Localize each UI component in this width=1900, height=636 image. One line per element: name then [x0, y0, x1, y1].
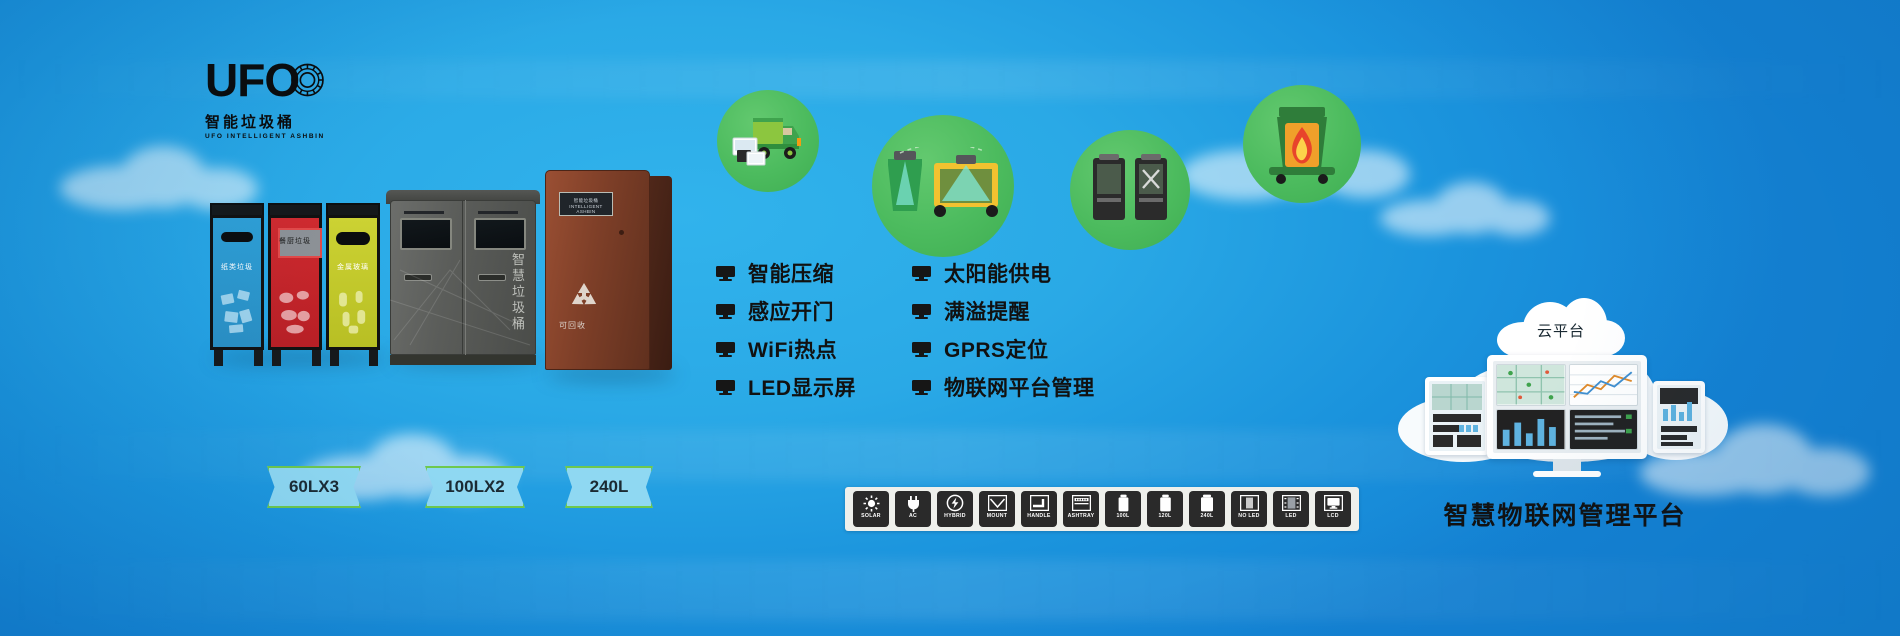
monitor-bullet-icon: [716, 304, 735, 319]
banner-stage: UFO 智能垃圾桶 UFO INTELLIGENT ASHBIN: [0, 0, 1900, 636]
dashboard-chart-panel: [1569, 364, 1639, 406]
feature-label: 物联网平台管理: [944, 372, 1095, 402]
feature-label: 智能压缩: [748, 258, 834, 288]
flame-alarm-icon: [1259, 101, 1345, 187]
spec-icon-solar[interactable]: SOLAR: [853, 491, 889, 527]
feature-item: 太阳能供电: [912, 258, 1095, 288]
iot-platform-devices: [1425, 355, 1705, 485]
bin-240l-icon: [1189, 491, 1225, 513]
spec-icon-label: AC: [895, 513, 931, 520]
sky-streak: [0, 560, 1900, 620]
bin-graphic-overlay: [390, 230, 536, 350]
spec-icon-lcd[interactable]: LCD: [1315, 491, 1351, 527]
spec-icon-label: 240L: [1189, 513, 1225, 520]
no-led-icon: [1231, 491, 1267, 513]
power-plug-icon: [895, 491, 931, 513]
feature-item: 感应开门: [716, 296, 856, 326]
background-cloud: [1380, 180, 1550, 236]
ring-emblem-icon: [290, 53, 325, 107]
monitor-stand: [1553, 459, 1581, 471]
green-circle-fill-sensing: [872, 115, 1014, 257]
sun-icon: [853, 491, 889, 513]
feature-item: 物联网平台管理: [912, 372, 1095, 402]
feature-label: GPRS定位: [944, 334, 1049, 364]
brown-recycling-bin: 智能垃圾桶 INTELLIGENT ASHBIN 可回收: [545, 170, 650, 370]
bin-label: 餐厨垃圾: [271, 236, 319, 246]
capacity-ribbon-60lx3: 60LX3: [267, 466, 361, 508]
spec-icon-100l[interactable]: 100L: [1105, 491, 1141, 527]
feature-column-left: 智能压缩 感应开门 WiFi热点 LED显示屏: [716, 258, 856, 402]
feature-item: LED显示屏: [716, 372, 856, 402]
bin-label: 金属玻璃: [329, 262, 377, 272]
wall-mount-icon: [979, 491, 1015, 513]
spec-icon-label: LED: [1273, 513, 1309, 520]
spec-icon-label: 120L: [1147, 513, 1183, 520]
logo-english-name: UFO INTELLIGENT ASHBIN: [205, 133, 325, 140]
spec-icon-led[interactable]: LED: [1273, 491, 1309, 527]
capacity-ribbon-100lx2: 100LX2: [425, 466, 525, 508]
tablet-left: [1425, 377, 1489, 455]
spec-icon-mount[interactable]: MOUNT: [979, 491, 1015, 527]
green-circle-collection-truck: [717, 90, 819, 192]
logo-wordmark: UFO: [205, 55, 299, 105]
feature-item: 满溢提醒: [912, 296, 1095, 326]
bin-100l-icon: [1105, 491, 1141, 513]
bin-sensor-icon: [884, 147, 1002, 225]
feature-label: 满溢提醒: [944, 296, 1030, 326]
background-cloud: [60, 140, 260, 210]
spec-icon-label: SOLAR: [853, 513, 889, 520]
feature-label: 感应开门: [748, 296, 834, 326]
hybrid-bolt-icon: [937, 491, 973, 513]
bin-label: 可回收: [559, 320, 586, 331]
dashboard-map-panel: [1496, 364, 1566, 406]
monitor-bullet-icon: [912, 342, 931, 357]
spec-icon-label: HANDLE: [1021, 513, 1057, 520]
cloud-badge-label: 云平台: [1497, 320, 1625, 341]
spec-icon-label: HYBRID: [937, 513, 973, 520]
monitor-base: [1533, 471, 1601, 477]
dual-bay-smart-bin: 智慧垃圾桶: [390, 200, 536, 355]
spec-icon-no-led[interactable]: NO LED: [1231, 491, 1267, 527]
bin-legs: [210, 350, 382, 366]
monitor-bullet-icon: [912, 380, 931, 395]
feature-label: WiFi热点: [748, 334, 837, 364]
cloud-platform-badge: 云平台: [1497, 298, 1625, 358]
monitor-bullet-icon: [716, 380, 735, 395]
lcd-screen-icon: [1315, 491, 1351, 513]
spec-icon-label: NO LED: [1231, 513, 1267, 520]
bin-artwork: [333, 278, 373, 342]
spec-icon-hybrid[interactable]: HYBRID: [937, 491, 973, 527]
monitor-bullet-icon: [912, 304, 931, 319]
three-colour-sorting-bin: 纸类垃圾 餐厨垃圾: [210, 215, 382, 350]
feature-item: WiFi热点: [716, 334, 856, 364]
green-circle-compaction: [1070, 130, 1190, 250]
logo-chinese-name: 智能垃圾桶: [205, 111, 325, 132]
feature-item: 智能压缩: [716, 258, 856, 288]
feature-label: LED显示屏: [748, 372, 856, 402]
monitor-bullet-icon: [716, 266, 735, 281]
spec-icon-120l[interactable]: 120L: [1147, 491, 1183, 527]
spec-icon-ac[interactable]: AC: [895, 491, 931, 527]
tablet-right: [1653, 381, 1705, 453]
feature-column-right: 太阳能供电 满溢提醒 GPRS定位 物联网平台管理: [912, 258, 1095, 402]
spec-icon-label: LCD: [1315, 513, 1351, 520]
feature-label: 太阳能供电: [944, 258, 1052, 288]
handle-icon: [1021, 491, 1057, 513]
dashboard-bar-panel: [1496, 409, 1566, 451]
ashtray-icon: [1063, 491, 1099, 513]
recycle-symbol-icon: [567, 280, 601, 314]
platform-title: 智慧物联网管理平台: [1420, 496, 1710, 532]
dashboard-list-panel: [1569, 409, 1639, 451]
capacity-label: 240L: [590, 477, 629, 497]
spec-icon-240l[interactable]: 240L: [1189, 491, 1225, 527]
spec-icon-label: MOUNT: [979, 513, 1015, 520]
bin-120l-icon: [1147, 491, 1183, 513]
feature-item: GPRS定位: [912, 334, 1095, 364]
green-circle-fire-detection: [1243, 85, 1361, 203]
feature-list: 智能压缩 感应开门 WiFi热点 LED显示屏 太阳能供电 满溢提醒: [716, 258, 1095, 402]
spec-icon-label: 100L: [1105, 513, 1141, 520]
spec-icon-handle[interactable]: HANDLE: [1021, 491, 1057, 527]
led-panel-icon: [1273, 491, 1309, 513]
garbage-truck-icon: [731, 112, 805, 170]
capacity-label: 60LX3: [289, 477, 339, 497]
monitor-bullet-icon: [716, 342, 735, 357]
monitor-bullet-icon: [912, 266, 931, 281]
bin-info-screen: 智能垃圾桶 INTELLIGENT ASHBIN: [559, 192, 613, 216]
bin-artwork: [275, 278, 315, 342]
desktop-monitor: [1487, 355, 1647, 459]
spec-icon-ashtray[interactable]: ASHTRAY: [1063, 491, 1099, 527]
bin-artwork: [217, 278, 257, 342]
capacity-label: 100LX2: [445, 477, 505, 497]
twin-compactor-icon: [1085, 152, 1175, 228]
spec-icon-strip: SOLAR AC HYBRID MOUNT: [845, 487, 1359, 531]
bin-screen-text: 智能垃圾桶 INTELLIGENT ASHBIN: [560, 198, 612, 214]
capacity-ribbon-240l: 240L: [565, 466, 653, 508]
bin-label: 纸类垃圾: [213, 262, 261, 272]
brand-logo: UFO 智能垃圾桶 UFO INTELLIGENT ASHBIN: [205, 55, 325, 150]
spec-icon-label: ASHTRAY: [1063, 513, 1099, 520]
